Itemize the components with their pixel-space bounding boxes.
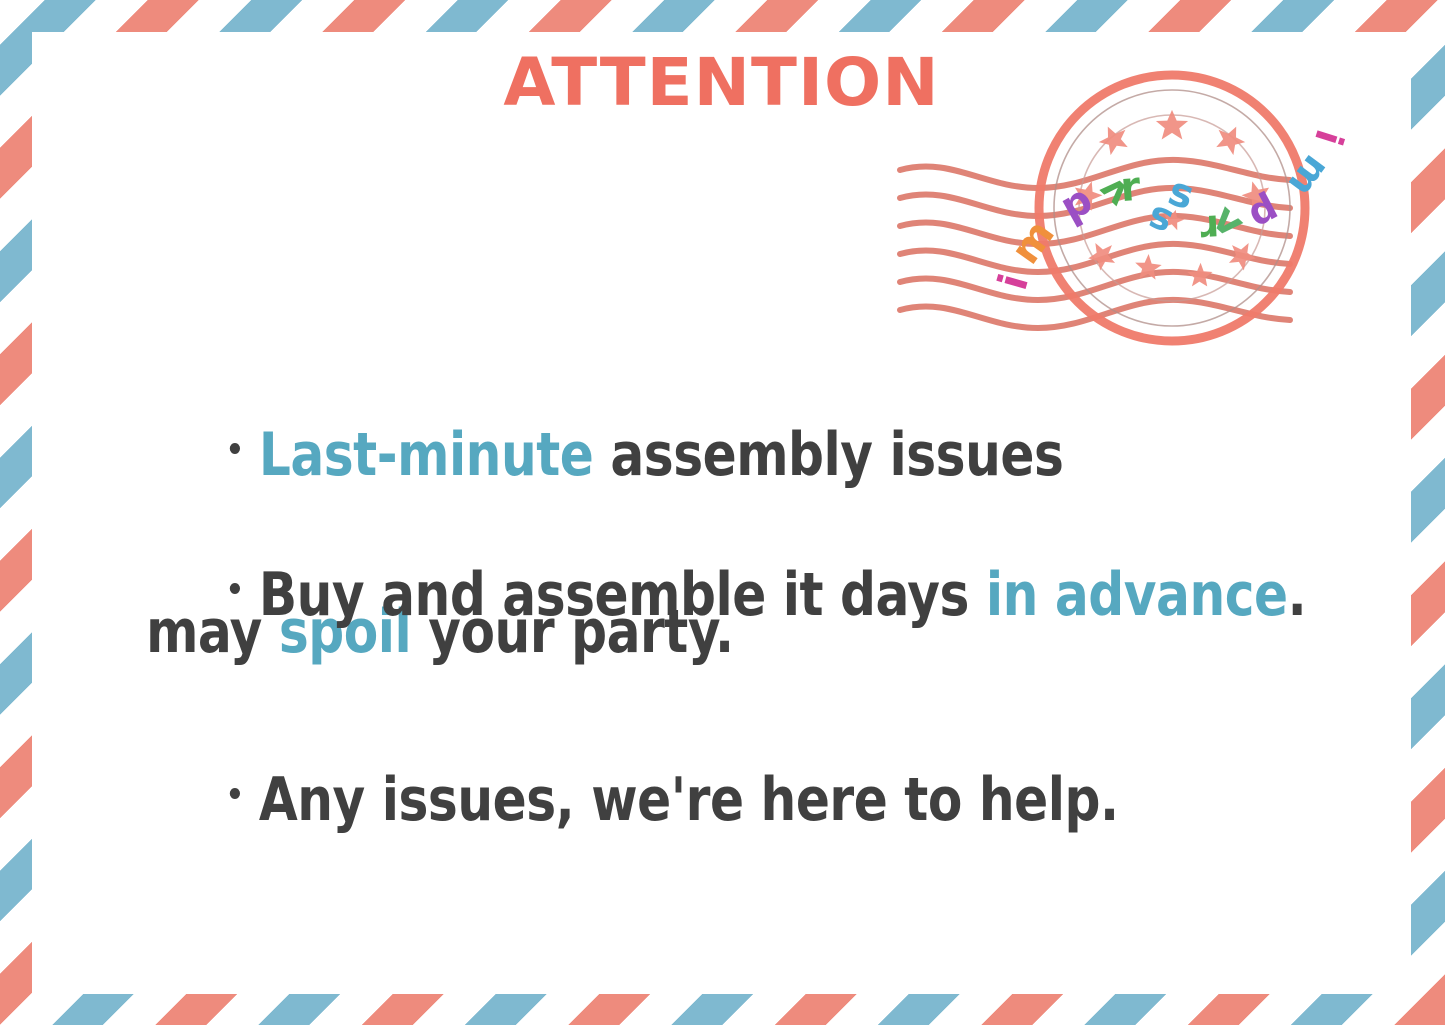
notice-card: ATTENTION xyxy=(0,0,1445,1025)
bullet-dot-icon xyxy=(230,443,240,454)
bullet-2-text-2: . xyxy=(1288,560,1307,630)
svg-text:m: m xyxy=(1280,147,1339,205)
svg-text:i: i xyxy=(1306,125,1352,151)
cancellation-lines-icon xyxy=(900,160,1290,328)
bullet-dot-icon xyxy=(230,583,240,594)
card-content: ATTENTION xyxy=(32,32,1411,994)
bullet-2-highlight: in advance xyxy=(986,560,1288,630)
list-item: Any issues, we're here to help. xyxy=(94,667,1313,933)
bullet-2-text-1: Buy and assemble it days xyxy=(259,560,986,630)
svg-text:r: r xyxy=(1199,206,1220,251)
postmark-stamp: i m p r s v i m p r s v xyxy=(890,68,1370,358)
bullet-3-text: Any issues, we're here to help. xyxy=(259,765,1119,835)
bullet-dot-icon xyxy=(230,788,240,799)
